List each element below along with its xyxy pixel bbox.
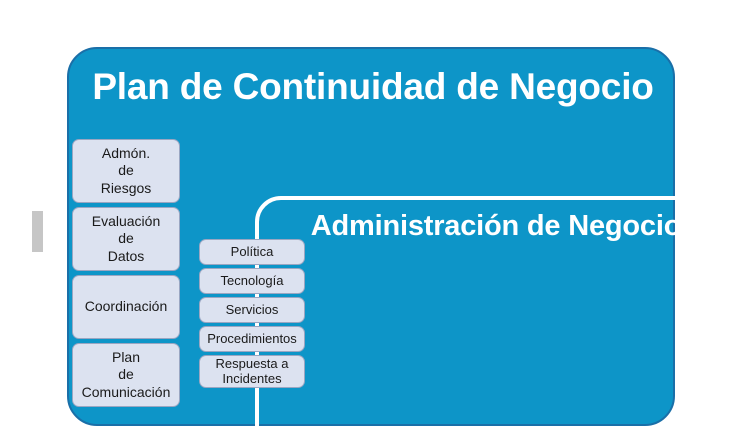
line-2: Incidentes [222, 371, 281, 386]
diagram-canvas: Plan de Continuidad de Negocio Administr… [0, 0, 744, 443]
left-column-items: Admón. de Riesgos Evaluación de Datos Co… [72, 139, 180, 411]
administracion-items: Política Tecnología Servicios Procedimie… [199, 239, 305, 391]
line-2: de [118, 366, 134, 382]
line-1: Admón. [102, 145, 150, 161]
administracion-de-negocio-container: Administración de Negocio Recuperación d… [255, 196, 737, 443]
left-connector-bar [32, 211, 43, 252]
left-item-coordinacion-label: Coordinación [82, 298, 171, 315]
left-item-plan-de-comunicacion-label: Plan de Comunicación [79, 349, 174, 400]
left-item-admon-de-riesgos-label: Admón. de Riesgos [98, 145, 155, 196]
line-2: de [118, 230, 134, 246]
line-1: Plan [112, 349, 140, 365]
admin-item-servicios[interactable]: Servicios [199, 297, 305, 323]
admin-item-politica-label: Política [228, 244, 277, 260]
administracion-de-negocio-title: Administración de Negocio [259, 210, 733, 243]
line-1: Evaluación [92, 213, 161, 229]
left-item-plan-de-comunicacion[interactable]: Plan de Comunicación [72, 343, 180, 407]
line-2: de [118, 162, 134, 178]
admin-item-tecnologia[interactable]: Tecnología [199, 268, 305, 294]
admin-item-procedimientos[interactable]: Procedimientos [199, 326, 305, 352]
admin-item-servicios-label: Servicios [223, 302, 282, 318]
page-title: Plan de Continuidad de Negocio [69, 66, 677, 108]
left-item-evaluacion-de-datos[interactable]: Evaluación de Datos [72, 207, 180, 271]
admin-item-respuesta-a-incidentes[interactable]: Respuesta a Incidentes [199, 355, 305, 388]
line-3: Comunicación [82, 384, 171, 400]
line-3: Datos [108, 248, 145, 264]
admin-item-politica[interactable]: Política [199, 239, 305, 265]
admin-item-respuesta-a-incidentes-label: Respuesta a Incidentes [213, 357, 292, 387]
line-3: Riesgos [101, 180, 152, 196]
left-item-admon-de-riesgos[interactable]: Admón. de Riesgos [72, 139, 180, 203]
left-item-coordinacion[interactable]: Coordinación [72, 275, 180, 339]
admin-item-tecnologia-label: Tecnología [218, 273, 287, 289]
line-1: Respuesta a [216, 356, 289, 371]
admin-item-procedimientos-label: Procedimientos [204, 331, 300, 347]
left-item-evaluacion-de-datos-label: Evaluación de Datos [89, 213, 164, 264]
